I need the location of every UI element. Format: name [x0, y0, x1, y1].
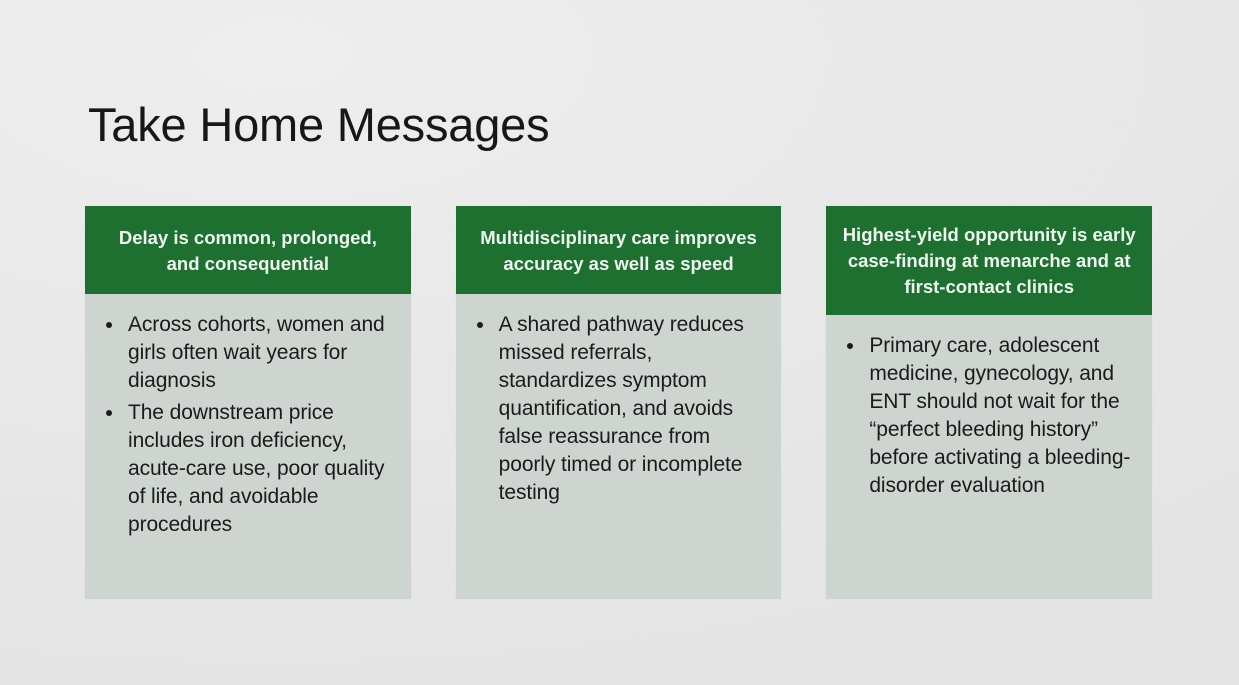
list-item-text: Across cohorts, women and girls often wa… [128, 313, 385, 392]
message-card-2-bullet-list: A shared pathway reduces missed referral… [474, 311, 768, 506]
message-card-1: Delay is common, prolonged, and conseque… [85, 206, 411, 599]
list-item-text: Primary care, adolescent medicine, gynec… [869, 334, 1130, 497]
page-title: Take Home Messages [88, 99, 549, 152]
list-item-text: The downstream price includes iron defic… [128, 401, 384, 536]
message-card-3-bullet-list: Primary care, adolescent medicine, gynec… [844, 332, 1138, 500]
message-card-2-header: Multidisciplinary care improves accuracy… [456, 206, 782, 294]
message-card-3-body: Primary care, adolescent medicine, gynec… [826, 315, 1152, 599]
message-card-1-bullet-list: Across cohorts, women and girls often wa… [103, 311, 397, 538]
bullet-dot-icon [477, 322, 483, 328]
bullet-dot-icon [106, 322, 112, 328]
list-item: A shared pathway reduces missed referral… [474, 311, 768, 506]
message-card-3-header: Highest-yield opportunity is early case-… [826, 206, 1152, 315]
message-card-1-body: Across cohorts, women and girls often wa… [85, 294, 411, 599]
take-home-message-cards: Delay is common, prolonged, and conseque… [85, 206, 1152, 599]
list-item: Across cohorts, women and girls often wa… [103, 311, 397, 395]
list-item: The downstream price includes iron defic… [103, 399, 397, 539]
bullet-dot-icon [847, 343, 853, 349]
message-card-3: Highest-yield opportunity is early case-… [826, 206, 1152, 599]
message-card-1-header: Delay is common, prolonged, and conseque… [85, 206, 411, 294]
bullet-dot-icon [106, 410, 112, 416]
message-card-2: Multidisciplinary care improves accuracy… [456, 206, 782, 599]
list-item-text: A shared pathway reduces missed referral… [499, 313, 744, 504]
slide: Take Home Messages Delay is common, prol… [0, 0, 1239, 685]
message-card-2-body: A shared pathway reduces missed referral… [456, 294, 782, 599]
list-item: Primary care, adolescent medicine, gynec… [844, 332, 1138, 500]
